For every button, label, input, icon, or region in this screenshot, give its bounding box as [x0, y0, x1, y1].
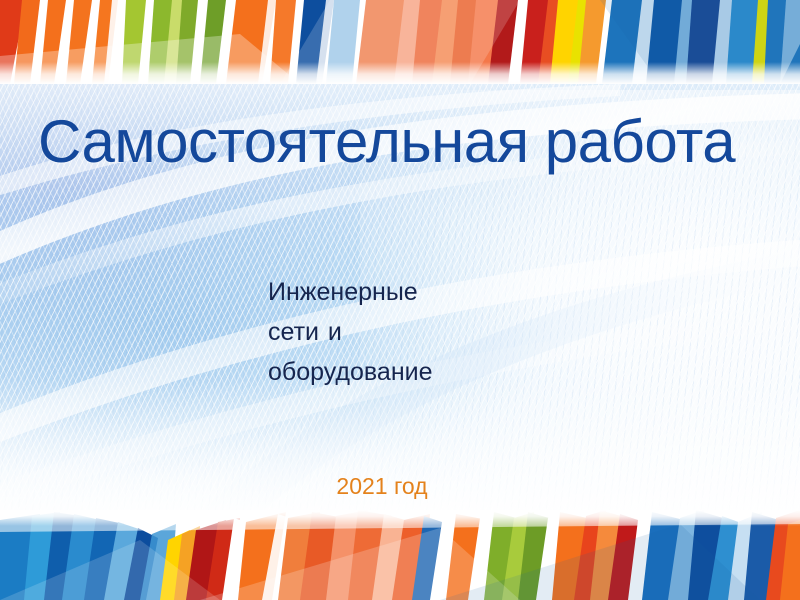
slide-subtitle[interactable]: Инженерные сети и оборудование	[268, 272, 454, 392]
abstract-shard-border-top	[0, 0, 800, 84]
shard-pattern-bottom	[0, 510, 800, 600]
slide-year[interactable]: 2021 год	[0, 473, 800, 500]
abstract-shard-border-bottom	[0, 510, 800, 600]
presentation-slide: Самостоятельная работа Инженерные сети и…	[0, 0, 800, 600]
shard-pattern-top	[0, 0, 800, 84]
slide-title[interactable]: Самостоятельная работа	[38, 110, 778, 173]
slide-year-label: 2021 год	[336, 473, 427, 500]
